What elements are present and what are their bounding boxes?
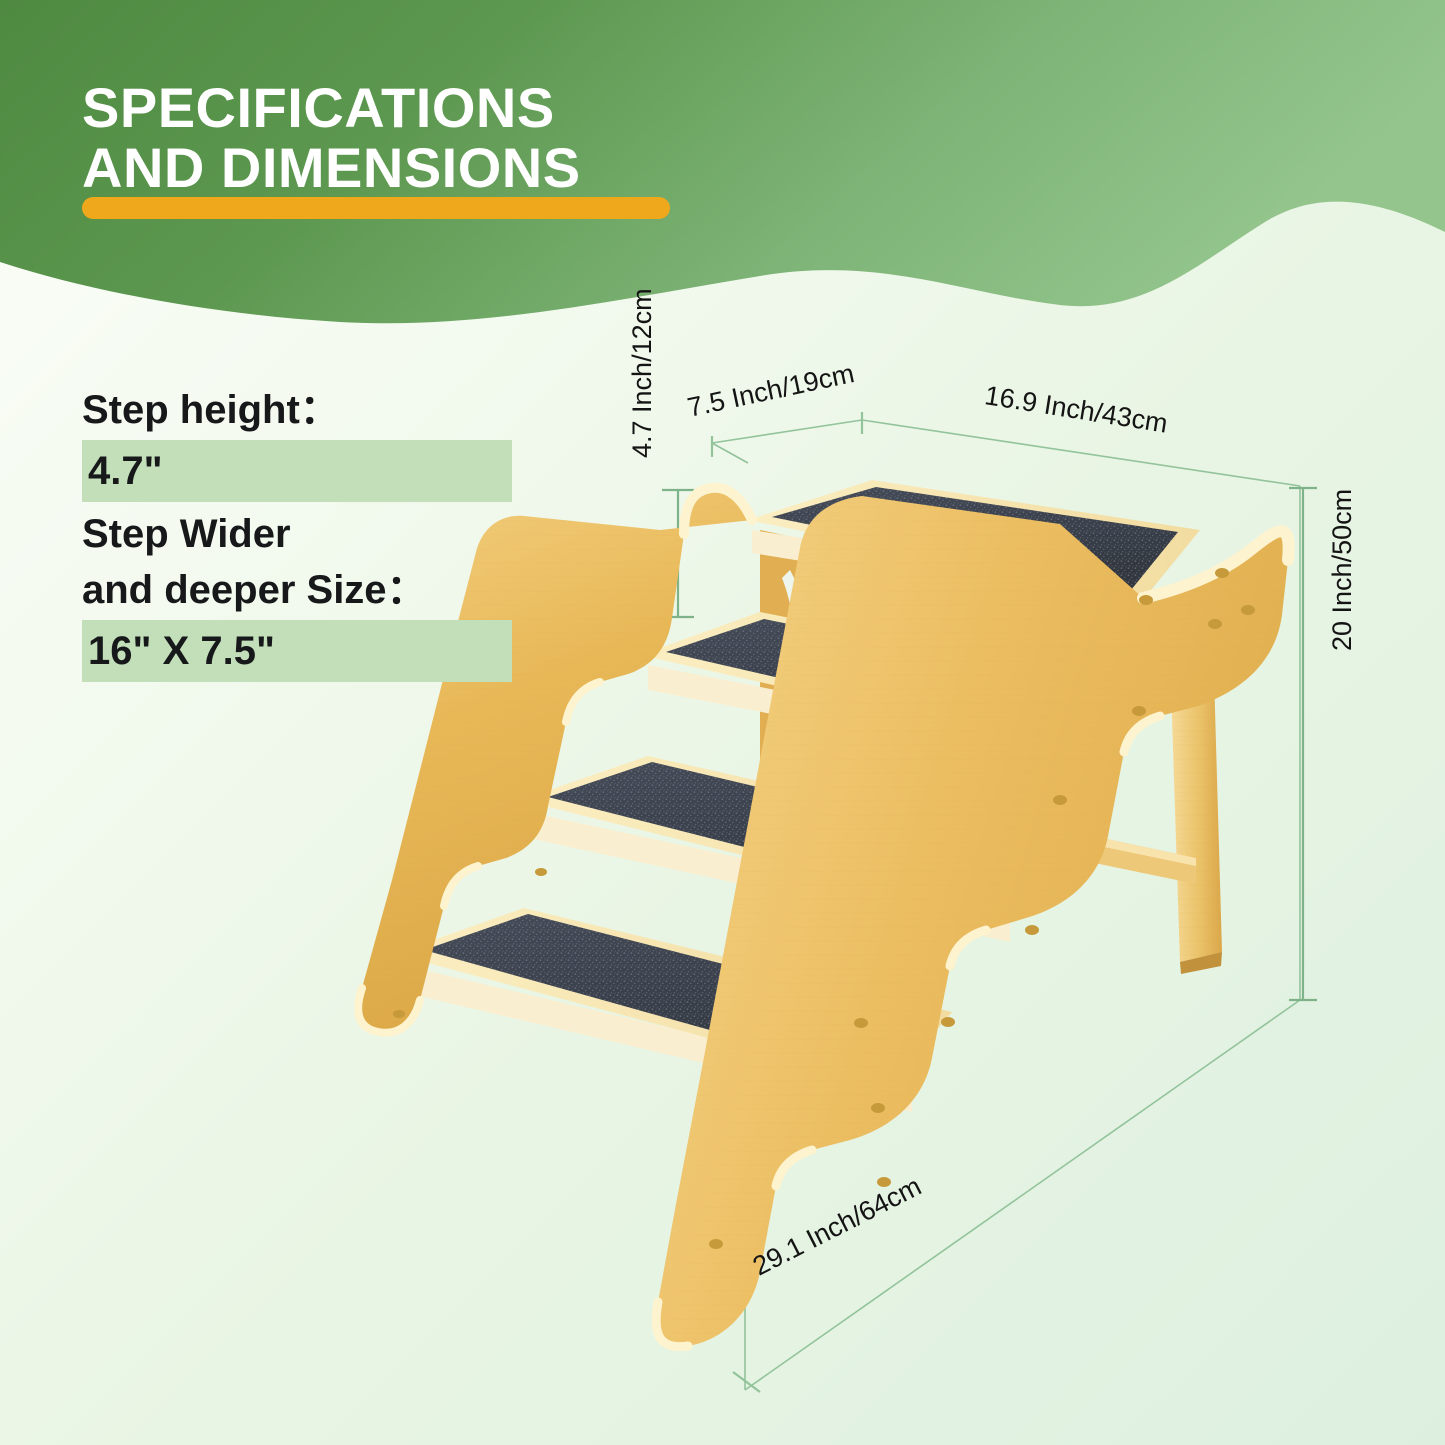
dimension-label-step-height: 4.7 Inch/12cm	[627, 288, 658, 458]
step-size-label-line-1: Step Wider	[82, 506, 542, 562]
product-illustration	[0, 0, 1445, 1445]
step-size-value: 16" X 7.5"	[82, 620, 512, 682]
specs-panel: Step height： 4.7" Step Wider and deeper …	[82, 382, 542, 686]
step-height-label: Step height：	[82, 382, 542, 438]
total-height-dimension-line	[1289, 488, 1317, 1000]
step-height-value: 4.7"	[82, 440, 512, 502]
infographic-canvas: SPECIFICATIONS AND DIMENSIONS Step heigh…	[0, 0, 1445, 1445]
dimension-label-total-height: 20 Inch/50cm	[1327, 489, 1358, 651]
step-size-label-line-2: and deeper Size：	[82, 562, 542, 618]
